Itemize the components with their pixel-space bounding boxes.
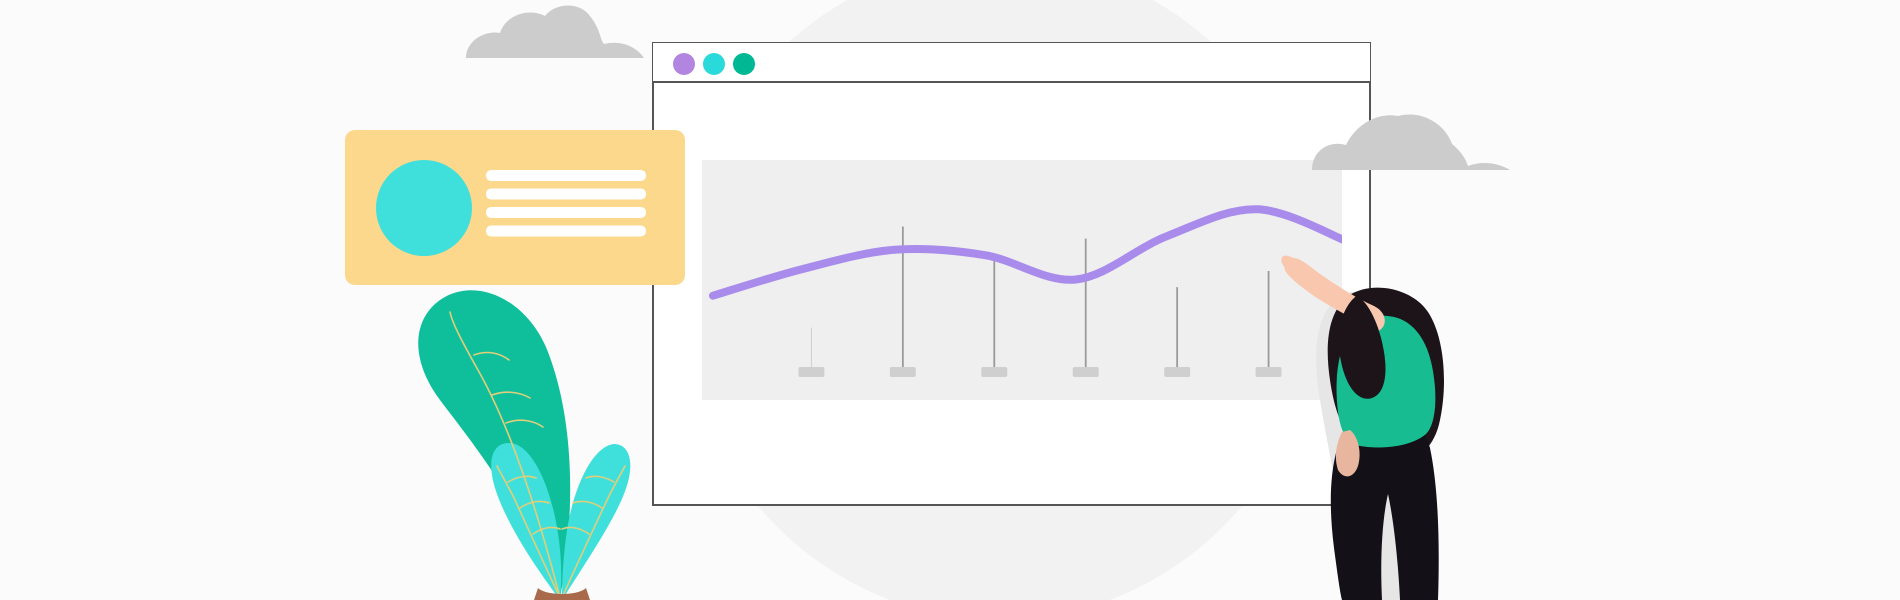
text-placeholder-line (486, 207, 646, 218)
text-placeholder-line (486, 170, 646, 181)
window-dot-cyan[interactable] (703, 53, 725, 75)
browser-titlebar (653, 43, 1370, 82)
chart-panel-background (702, 160, 1342, 400)
window-dot-purple[interactable] (673, 53, 695, 75)
window-dot-teal[interactable] (733, 53, 755, 75)
illustration-scene (0, 0, 1900, 600)
text-placeholder-line (486, 226, 646, 237)
chart-stem-handle[interactable] (890, 367, 916, 377)
chart-stem-handle[interactable] (798, 367, 824, 377)
chart-panel[interactable] (702, 160, 1348, 400)
avatar (376, 160, 472, 256)
illustration-canvas (0, 0, 1900, 600)
chart-stem-handle[interactable] (1073, 367, 1099, 377)
chart-stem-handle[interactable] (1256, 367, 1282, 377)
chart-stem-handle[interactable] (1164, 367, 1190, 377)
chart-stem-handle[interactable] (981, 367, 1007, 377)
notification-card[interactable] (345, 130, 685, 285)
text-placeholder-line (486, 189, 646, 200)
